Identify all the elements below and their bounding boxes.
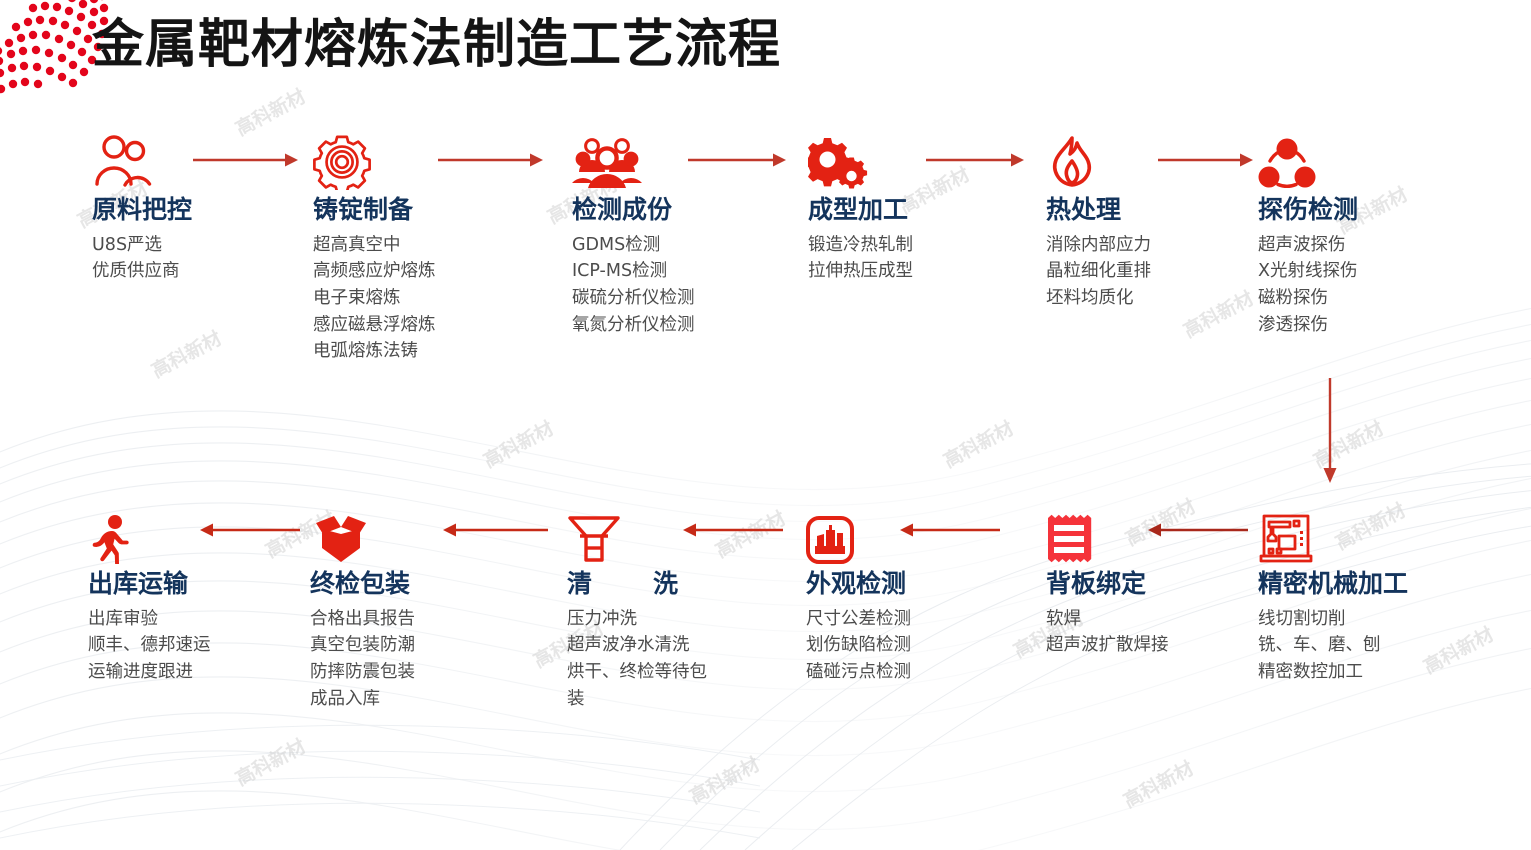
step-description: 消除内部应力 晶粒细化重排 坯料均质化 xyxy=(1046,232,1151,312)
step-item: 电子束熔炼 xyxy=(313,285,436,312)
step-title: 出库运输 xyxy=(88,570,211,599)
funnel-icon xyxy=(567,506,739,564)
arrow-step2-to-step3 xyxy=(438,150,543,170)
gear-rings-icon xyxy=(313,132,436,190)
users-pair-icon xyxy=(92,132,192,190)
step-description: 合格出具报告 真空包装防潮 防摔防震包装 成品入库 xyxy=(310,606,415,712)
process-step-11[interactable]: 终检包装 合格出具报告 真空包装防潮 防摔防震包装 成品入库 xyxy=(310,506,415,712)
step-item: ICP-MS检测 xyxy=(572,258,695,285)
process-step-1[interactable]: 原料把控 U8S严选 优质供应商 xyxy=(92,132,192,285)
step-item: 超高真空中 xyxy=(313,232,436,259)
step-item: 超声波净水清洗 xyxy=(567,632,739,659)
process-step-10[interactable]: 清 洗 压力冲洗 超声波净水清洗 烘干、终检等待包 装 xyxy=(567,506,739,712)
step-description: 线切割切削 铣、车、磨、刨 精密数控加工 xyxy=(1258,606,1408,686)
step-item: 消除内部应力 xyxy=(1046,232,1151,259)
arrow-step1-to-step2 xyxy=(193,150,298,170)
step-item: 顺丰、德邦速运 xyxy=(88,632,211,659)
step-description: 出库审验 顺丰、德邦速运 运输进度跟进 xyxy=(88,606,211,686)
step-description: 软焊 超声波扩散焊接 xyxy=(1046,606,1169,659)
step-item: 划伤缺陷检测 xyxy=(806,632,911,659)
step-description: 超声波探伤 X光射线探伤 磁粉探伤 渗透探伤 xyxy=(1258,232,1358,338)
step-title: 检测成份 xyxy=(572,196,695,225)
step-item: 线切割切削 xyxy=(1258,606,1408,633)
step-description: GDMS检测 ICP-MS检测 碳硫分析仪检测 氧氮分析仪检测 xyxy=(572,232,695,338)
step-title: 热处理 xyxy=(1046,196,1151,225)
step-item: 尺寸公差检测 xyxy=(806,606,911,633)
step-title: 铸锭制备 xyxy=(313,196,436,225)
running-person-icon xyxy=(88,506,211,564)
people-group-icon xyxy=(572,132,695,190)
step-title: 原料把控 xyxy=(92,196,192,225)
step-item: 渗透探伤 xyxy=(1258,312,1358,339)
step-item: 碳硫分析仪检测 xyxy=(572,285,695,312)
arrow-step11-to-step12 xyxy=(200,520,300,540)
step-item: X光射线探伤 xyxy=(1258,258,1358,285)
step-item: 晶粒细化重排 xyxy=(1046,258,1151,285)
step-item: 锻造冷热轧制 xyxy=(808,232,913,259)
arrow-step5-to-step6 xyxy=(1158,150,1253,170)
step-item: 氧氮分析仪检测 xyxy=(572,312,695,339)
step-item: 磁粉探伤 xyxy=(1258,285,1358,312)
step-item: 高频感应炉熔炼 xyxy=(313,258,436,285)
step-item: 烘干、终检等待包 装 xyxy=(567,659,739,712)
step-item: 拉伸热压成型 xyxy=(808,258,913,285)
cnc-machine-icon xyxy=(1258,506,1408,564)
step-description: 尺寸公差检测 划伤缺陷检测 磕碰污点检测 xyxy=(806,606,911,686)
step-item: 超声波扩散焊接 xyxy=(1046,632,1169,659)
step-item: U8S严选 xyxy=(92,232,192,259)
step-title: 成型加工 xyxy=(808,196,913,225)
step-item: 精密数控加工 xyxy=(1258,659,1408,686)
step-item: 运输进度跟进 xyxy=(88,659,211,686)
step-description: 压力冲洗 超声波净水清洗 烘干、终检等待包 装 xyxy=(567,606,739,712)
arrow-step3-to-step4 xyxy=(688,150,786,170)
arrow-step4-to-step5 xyxy=(926,150,1024,170)
step-item: 超声波探伤 xyxy=(1258,232,1358,259)
step-item: 磕碰污点检测 xyxy=(806,659,911,686)
process-flow: 原料把控 U8S严选 优质供应商 铸锭制备 超高真空中 高频感应炉熔炼 电子束熔… xyxy=(0,0,1531,850)
page-header: 金属靶材熔炼法制造工艺流程 xyxy=(0,0,1531,110)
step-description: 超高真空中 高频感应炉熔炼 电子束熔炼 感应磁悬浮熔炼 电弧熔炼法铸 xyxy=(313,232,436,365)
step-item: 铣、车、磨、刨 xyxy=(1258,632,1408,659)
step-title: 清 洗 xyxy=(567,570,739,599)
flame-icon xyxy=(1046,132,1151,190)
step-title: 终检包装 xyxy=(310,570,415,599)
three-nodes-icon xyxy=(1258,132,1358,190)
step-title: 探伤检测 xyxy=(1258,196,1358,225)
process-step-6[interactable]: 探伤检测 超声波探伤 X光射线探伤 磁粉探伤 渗透探伤 xyxy=(1258,132,1358,338)
step-item: 软焊 xyxy=(1046,606,1169,633)
page-title: 金属靶材熔炼法制造工艺流程 xyxy=(92,2,781,77)
process-step-9[interactable]: 外观检测 尺寸公差检测 划伤缺陷检测 磕碰污点检测 xyxy=(806,506,911,686)
step-item: 感应磁悬浮熔炼 xyxy=(313,312,436,339)
process-step-4[interactable]: 成型加工 锻造冷热轧制 拉伸热压成型 xyxy=(808,132,913,285)
process-step-8[interactable]: 背板绑定 软焊 超声波扩散焊接 xyxy=(1046,506,1169,659)
process-step-2[interactable]: 铸锭制备 超高真空中 高频感应炉熔炼 电子束熔炼 感应磁悬浮熔炼 电弧熔炼法铸 xyxy=(313,132,436,365)
step-title: 精密机械加工 xyxy=(1258,570,1408,599)
label-barcode-icon xyxy=(1046,506,1169,564)
step-description: U8S严选 优质供应商 xyxy=(92,232,192,285)
arrow-step10-to-step11 xyxy=(443,520,548,540)
factory-badge-icon xyxy=(806,506,911,564)
step-item: 成品入库 xyxy=(310,686,415,713)
arrow-step8-to-step9 xyxy=(900,520,1000,540)
step-item: 优质供应商 xyxy=(92,258,192,285)
step-item: 压力冲洗 xyxy=(567,606,739,633)
step-title: 外观检测 xyxy=(806,570,911,599)
step-description: 锻造冷热轧制 拉伸热压成型 xyxy=(808,232,913,285)
arrow-step6-to-step7 xyxy=(1320,378,1340,483)
step-item: 真空包装防潮 xyxy=(310,632,415,659)
step-item: 合格出具报告 xyxy=(310,606,415,633)
step-item: 坯料均质化 xyxy=(1046,285,1151,312)
step-item: 电弧熔炼法铸 xyxy=(313,338,436,365)
step-item: 出库审验 xyxy=(88,606,211,633)
step-item: 防摔防震包装 xyxy=(310,659,415,686)
open-box-icon xyxy=(310,506,415,564)
process-step-7[interactable]: 精密机械加工 线切割切削 铣、车、磨、刨 精密数控加工 xyxy=(1258,506,1408,686)
step-item: GDMS检测 xyxy=(572,232,695,259)
process-step-12[interactable]: 出库运输 出库审验 顺丰、德邦速运 运输进度跟进 xyxy=(88,506,211,686)
step-title: 背板绑定 xyxy=(1046,570,1169,599)
two-gears-icon xyxy=(808,132,913,190)
process-step-3[interactable]: 检测成份 GDMS检测 ICP-MS检测 碳硫分析仪检测 氧氮分析仪检测 xyxy=(572,132,695,338)
process-step-5[interactable]: 热处理 消除内部应力 晶粒细化重排 坯料均质化 xyxy=(1046,132,1151,312)
